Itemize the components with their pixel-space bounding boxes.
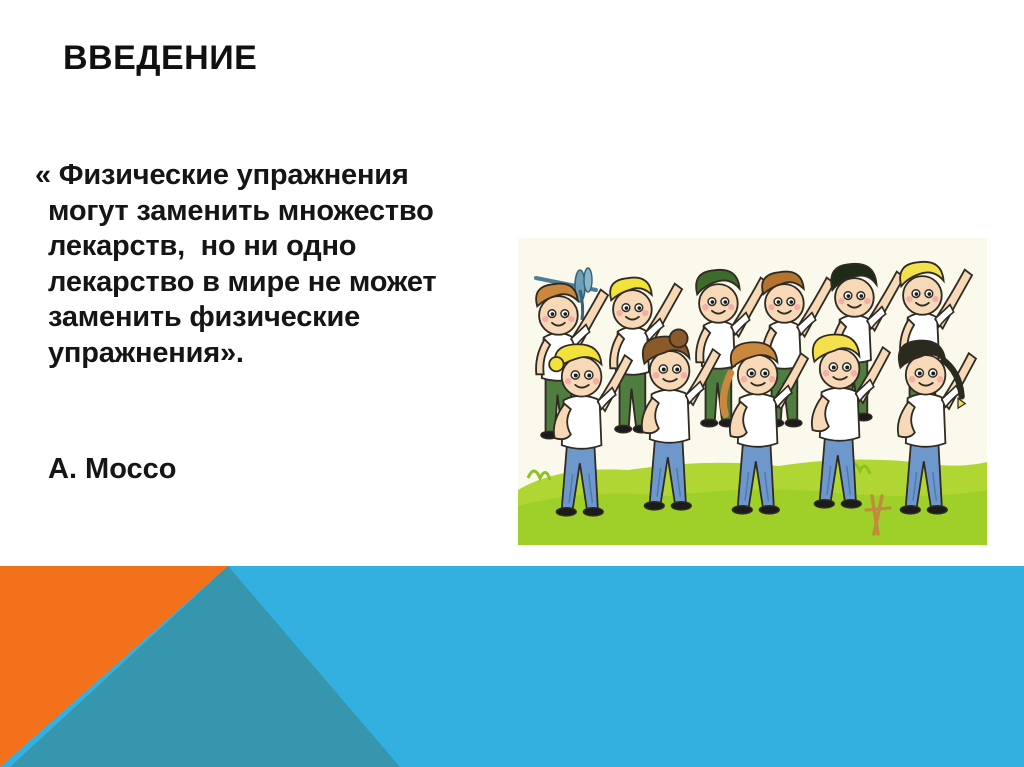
footer-decoration	[0, 566, 1024, 767]
quote-line: лекарство в мире не может	[35, 265, 475, 301]
quote-attribution: А. Моссо	[48, 452, 177, 487]
quote-block: « Физические упражнения могут заменить м…	[35, 158, 475, 372]
quote-line: « Физические упражнения	[35, 158, 475, 194]
exercise-illustration	[518, 238, 987, 545]
quote-line: лекарств, но ни одно	[35, 229, 475, 265]
quote-line: заменить физические	[35, 300, 475, 336]
children-exercising-image	[518, 238, 987, 545]
slide-canvas: ВВЕДЕНИЕ « Физические упражнения могут з…	[0, 0, 1024, 767]
page-title: ВВЕДЕНИЕ	[63, 38, 257, 78]
quote-line: могут заменить множество	[35, 194, 475, 230]
quote-line: упражнения».	[35, 336, 475, 372]
